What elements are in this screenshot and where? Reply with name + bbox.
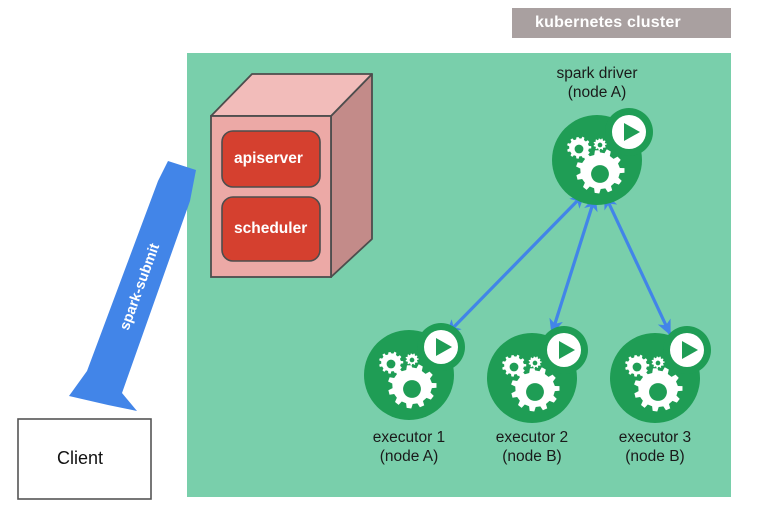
spark-driver-label-line1: spark driver <box>527 64 667 83</box>
control-plane-cube <box>211 74 372 277</box>
executor-2-label-line1: executor 2 <box>462 428 602 447</box>
scheduler-label: scheduler <box>234 220 307 238</box>
diagram-canvas: kubernetes cluster apiserver scheduler s… <box>0 0 761 516</box>
executor-3-label-line1: executor 3 <box>585 428 725 447</box>
executor-1-label-line2: (node A) <box>339 447 479 466</box>
executor-1-label-line1: executor 1 <box>339 428 479 447</box>
spark-driver-label-line2: (node A) <box>527 83 667 102</box>
executor-3-label-line2: (node B) <box>585 447 725 466</box>
apiserver-label: apiserver <box>234 150 303 168</box>
executor-2-label-line2: (node B) <box>462 447 602 466</box>
kubernetes-cluster-banner-label: kubernetes cluster <box>535 14 681 32</box>
client-label: Client <box>57 448 103 469</box>
